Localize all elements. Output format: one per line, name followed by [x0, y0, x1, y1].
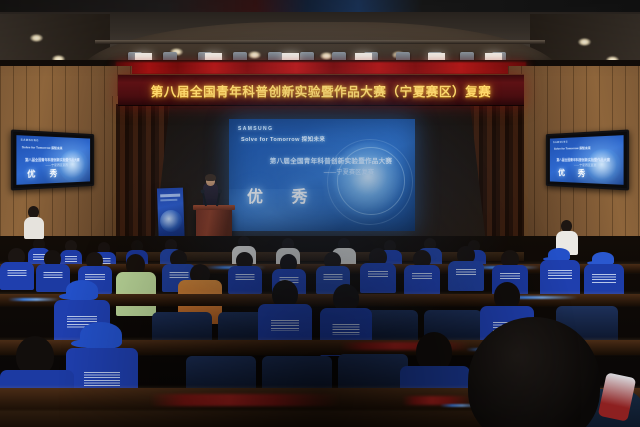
presenter-hair — [205, 174, 216, 181]
audience-member — [404, 250, 440, 294]
monitor-title: 第八届全国青年科普创新实验暨作品大赛 — [25, 157, 80, 162]
desk-led — [8, 298, 60, 301]
shirt-print — [592, 274, 616, 283]
projection-screen: SAMSUNG Solve for Tomorrow 探知未来 第八届全国青年科… — [229, 119, 415, 231]
shirt-print — [271, 320, 299, 331]
slide-title: 第八届全国青年科普创新实验暨作品大赛 — [251, 155, 411, 165]
monitor-tagline: Solve for Tomorrow 探知未来 — [22, 145, 63, 150]
audience-area — [0, 236, 640, 427]
audience-shirt — [24, 217, 44, 239]
shirt-print — [500, 273, 520, 281]
shirt-print — [333, 324, 360, 335]
podium-top — [193, 205, 235, 210]
rollup-banner-subtitle — [160, 199, 177, 202]
shirt-print — [84, 372, 120, 386]
audience-member — [0, 248, 34, 288]
lighting-truss — [95, 40, 545, 44]
downlight — [248, 51, 261, 59]
slide-tagline: Solve for Tomorrow 探知未来 — [241, 135, 325, 143]
blue-cap — [80, 322, 122, 348]
monitor-brand: SAMSUNG — [553, 141, 568, 144]
shirt-print — [412, 273, 432, 281]
monitor-brand: SAMSUNG — [21, 139, 39, 143]
monitor-title: 第八届全国青年科普创新实验暨作品大赛 — [556, 157, 610, 162]
rollup-banner-graphic — [160, 210, 183, 233]
blue-cap — [66, 280, 98, 300]
shirt-print — [548, 270, 572, 279]
shirt-print — [324, 274, 343, 282]
downlight — [30, 34, 43, 42]
monitor-tagline: Solve for Tomorrow 探知未来 — [554, 146, 591, 151]
led-scrolling-strip — [116, 62, 526, 74]
rollup-banner-title — [160, 194, 180, 198]
side-monitor-left-screen: SAMSUNG Solve for Tomorrow 探知未来 第八届全国青年科… — [16, 135, 90, 185]
slide-headline: 优 秀 — [247, 183, 319, 207]
slide-subtitle: ——宁夏赛区复赛 — [289, 167, 409, 176]
audience-member — [228, 252, 262, 292]
shirt-print — [456, 269, 476, 277]
side-monitor-left: SAMSUNG Solve for Tomorrow 探知未来 第八届全国青年科… — [11, 129, 94, 190]
audience-shirt — [540, 260, 580, 298]
ceiling-top-strip — [0, 0, 640, 12]
event-title-text: 第八届全国青年科普创新实验暨作品大赛（宁夏赛区）复赛 — [151, 81, 492, 100]
shirt-print — [236, 274, 255, 282]
monitor-subtitle: ——宁夏赛区复赛 — [574, 163, 597, 167]
desk-reflection — [150, 394, 340, 406]
event-title-banner: 第八届全国青年科普创新实验暨作品大赛（宁夏赛区）复赛 — [118, 74, 524, 106]
auditorium-photo: 第八届全国青年科普创新实验暨作品大赛（宁夏赛区）复赛 SAMSUNG Solve… — [0, 0, 640, 427]
shirt-print — [8, 270, 27, 278]
shirt-print — [44, 272, 63, 280]
audience-member — [448, 246, 484, 290]
audience-member-cap — [540, 248, 580, 298]
shirt-print — [368, 271, 388, 279]
side-monitor-right-screen: SAMSUNG Solve for Tomorrow 探知未来 第八届全国青年科… — [550, 135, 624, 185]
audience-member-white-shirt — [24, 206, 44, 248]
screen-graphic-ring-outer — [327, 139, 413, 225]
side-monitor-right: SAMSUNG Solve for Tomorrow 探知未来 第八届全国青年科… — [546, 129, 629, 190]
monitor-subtitle: ——宁夏赛区复赛 — [45, 163, 67, 167]
monitor-headline: 优 秀 — [27, 168, 63, 180]
monitor-headline: 优 秀 — [558, 168, 591, 180]
samsung-logo: SAMSUNG — [238, 126, 273, 132]
downlight — [578, 38, 591, 46]
